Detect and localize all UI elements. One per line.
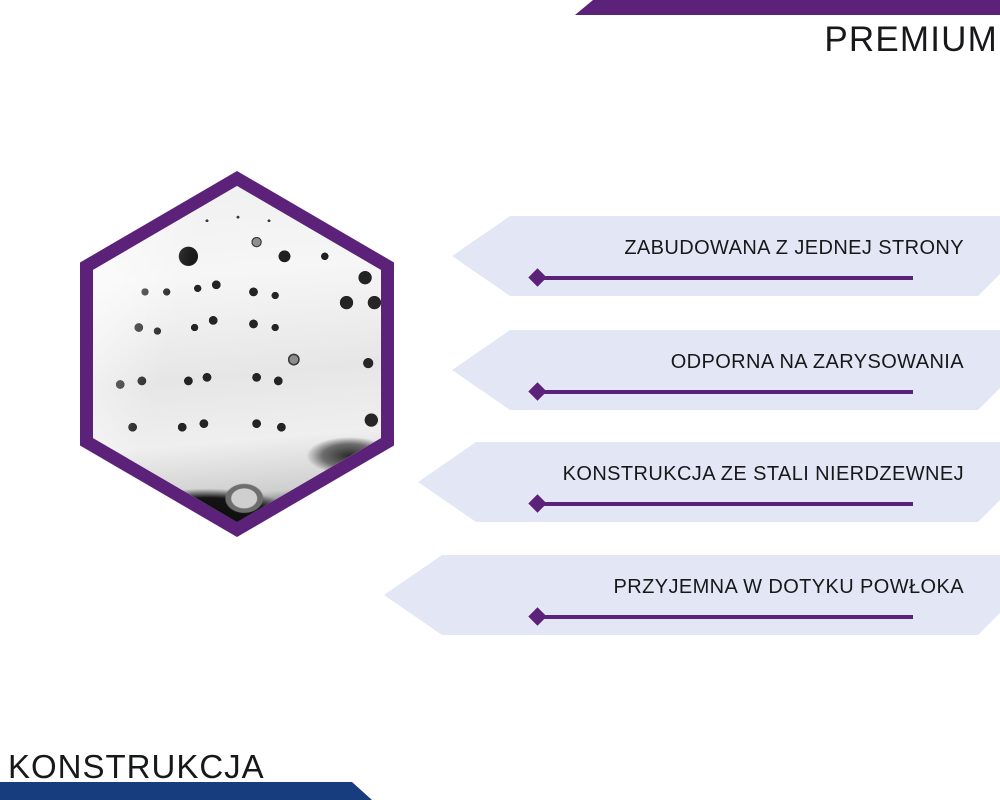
feature-label: KONSTRUKCJA ZE STALI NIERDZEWNEJ [563, 463, 964, 486]
top-accent-bar [575, 0, 1000, 15]
hexagon-image-frame [80, 171, 394, 537]
feature-rule [538, 502, 913, 506]
feature-label: ZABUDOWANA Z JEDNEJ STRONY [624, 237, 964, 260]
feature-banner: ZABUDOWANA Z JEDNEJ STRONY [452, 216, 1000, 296]
feature-label: ODPORNA NA ZARYSOWANIA [671, 351, 964, 374]
bottom-accent-bar [0, 782, 372, 800]
feature-label: PRZYJEMNA W DOTYKU POWŁOKA [614, 576, 964, 599]
feature-banner: PRZYJEMNA W DOTYKU POWŁOKA [384, 555, 1000, 635]
feature-banner: KONSTRUKCJA ZE STALI NIERDZEWNEJ [418, 442, 1000, 522]
feature-rule [538, 276, 913, 280]
feature-banner: ODPORNA NA ZARYSOWANIA [452, 330, 1000, 410]
footer-section-title: KONSTRUKCJA [8, 750, 265, 783]
page-title: PREMIUM [824, 22, 998, 57]
feature-rule [538, 390, 913, 394]
slide-canvas: PREMIUM ZABUDOWANA Z JEDNEJ STRONY ODPOR… [0, 0, 1000, 800]
feature-rule [538, 615, 913, 619]
